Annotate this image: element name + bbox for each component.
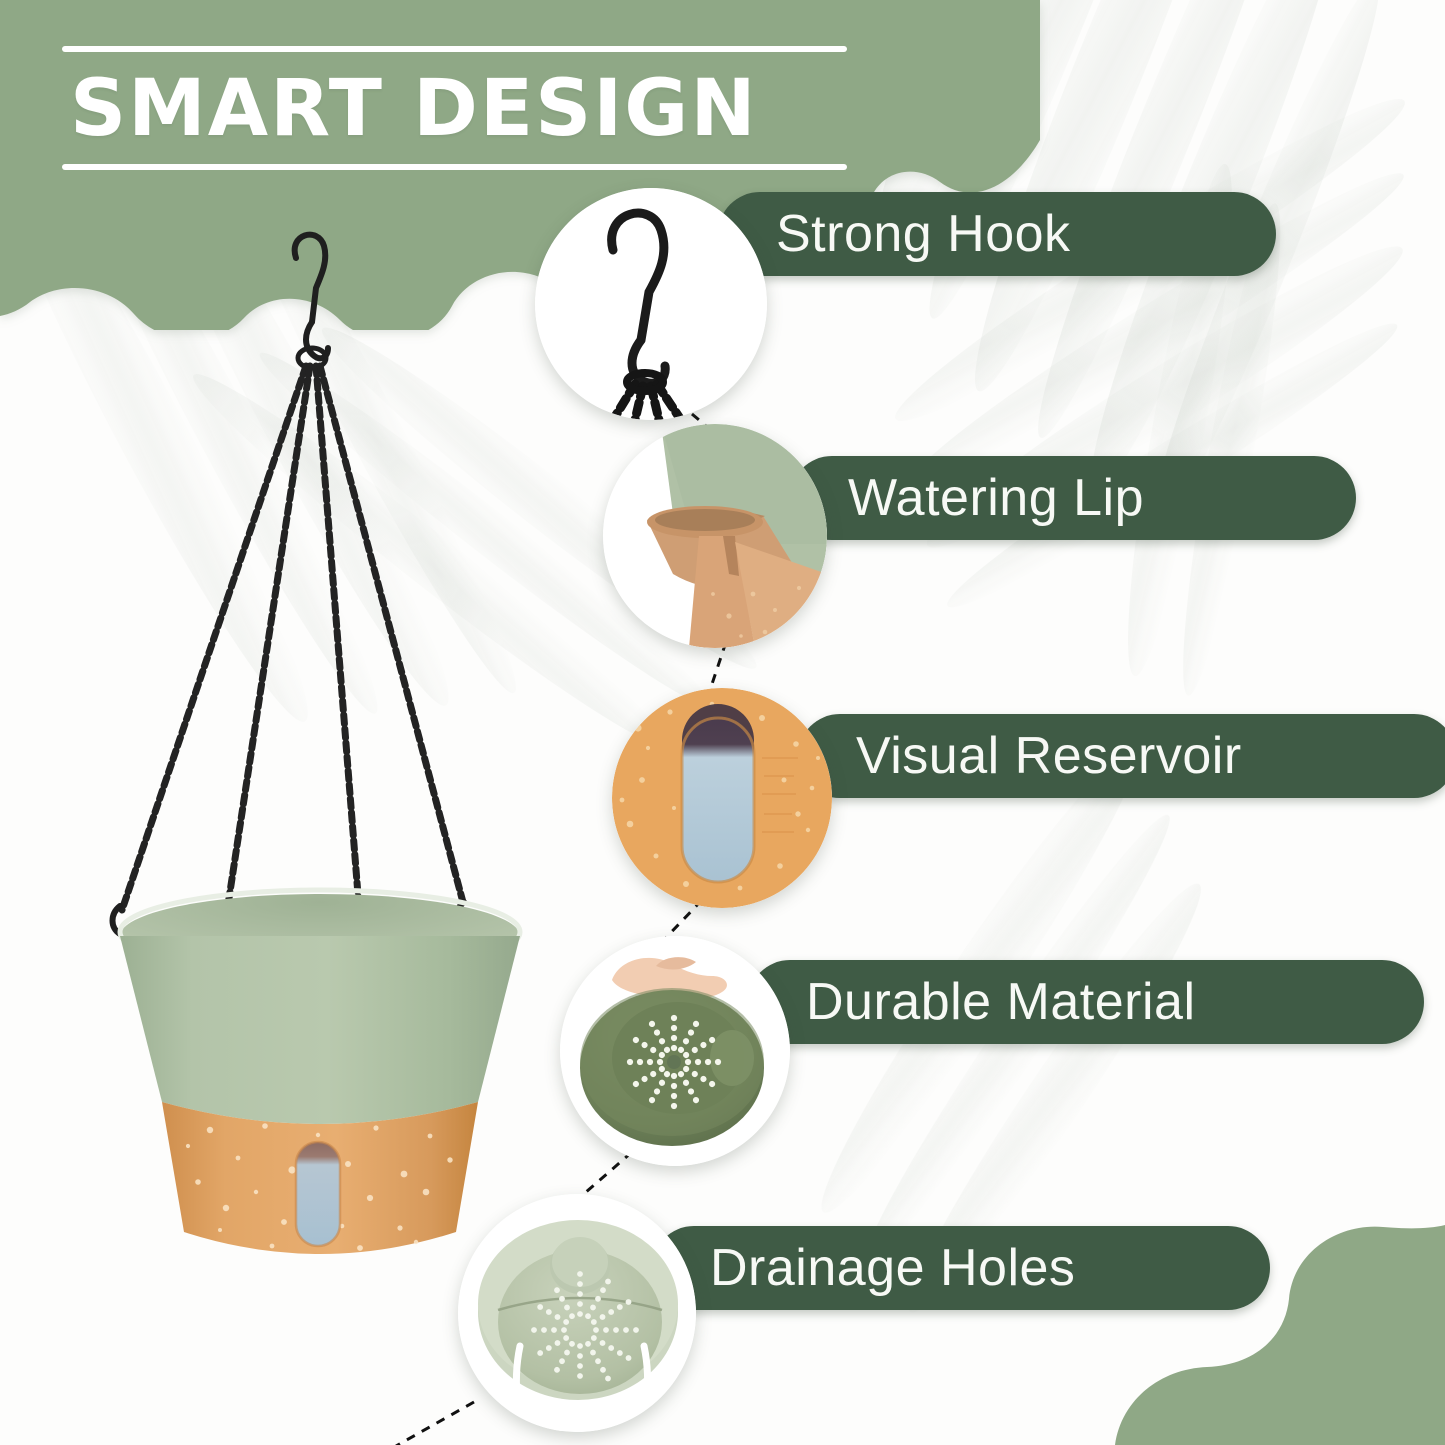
- feature-label-watering-lip: Watering Lip: [848, 468, 1144, 528]
- feature-circle-visual-reservoir[interactable]: [612, 688, 832, 908]
- feature-label-strong-hook: Strong Hook: [776, 204, 1071, 264]
- connector-5-product: [390, 1400, 480, 1445]
- feature-label-durable-material: Durable Material: [806, 972, 1196, 1032]
- planter-chains: [122, 366, 464, 920]
- planter-green-body: [120, 936, 520, 1124]
- feature-circle-drainage-holes[interactable]: [458, 1194, 696, 1432]
- feature-pill-durable-material[interactable]: Durable Material: [748, 960, 1424, 1044]
- watering-lip-cutaway-icon: [603, 424, 827, 648]
- hook-and-chains-icon: [535, 188, 767, 420]
- title-rule-bottom: [62, 164, 847, 170]
- feature-circle-durable-material[interactable]: [560, 936, 790, 1166]
- planter-illustration: [60, 230, 580, 1320]
- water-level-gauge: [296, 1142, 340, 1246]
- feature-circle-strong-hook[interactable]: [535, 188, 767, 420]
- page-title: SMART DESIGN: [70, 70, 852, 148]
- infographic-canvas: SMART DESIGN: [0, 0, 1445, 1445]
- feature-pill-watering-lip[interactable]: Watering Lip: [790, 456, 1356, 540]
- header-title-block: SMART DESIGN: [62, 46, 852, 170]
- water-level-gauge-icon: [612, 688, 832, 908]
- planter-hook: [295, 235, 328, 359]
- feature-pill-strong-hook[interactable]: Strong Hook: [718, 192, 1276, 276]
- title-rule-top: [62, 46, 847, 52]
- hanging-planter-photo: [60, 230, 580, 1320]
- feature-pill-drainage-holes[interactable]: Drainage Holes: [652, 1226, 1270, 1310]
- perforated-drain-plate-icon: [458, 1194, 696, 1432]
- feature-label-visual-reservoir: Visual Reservoir: [856, 726, 1242, 786]
- feature-pill-visual-reservoir[interactable]: Visual Reservoir: [798, 714, 1445, 798]
- feature-circle-watering-lip[interactable]: [603, 424, 827, 648]
- feature-label-drainage-holes: Drainage Holes: [710, 1238, 1075, 1298]
- hand-pressing-basket-icon: [560, 936, 790, 1166]
